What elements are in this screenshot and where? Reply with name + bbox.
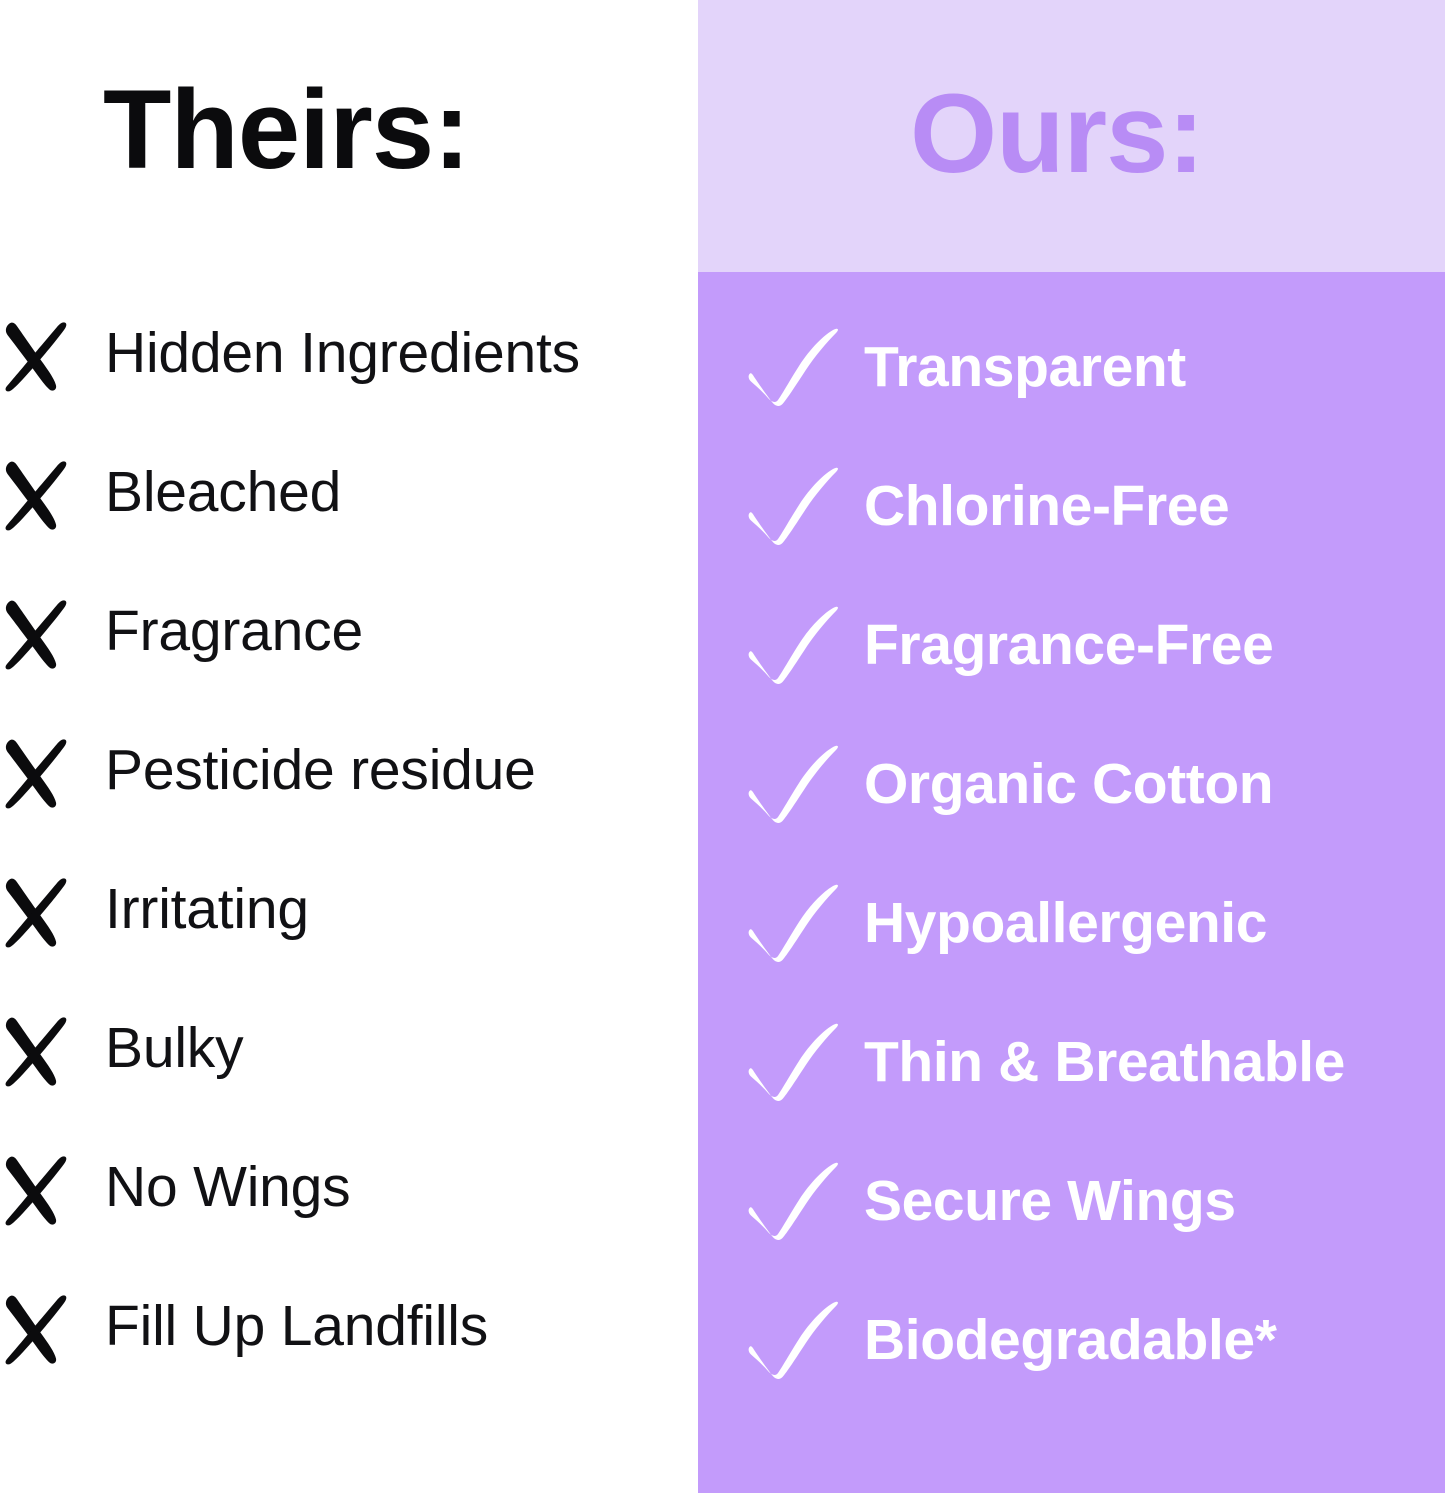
x-mark-icon xyxy=(2,1013,72,1087)
check-mark-icon xyxy=(746,467,842,545)
x-mark-icon xyxy=(2,596,72,670)
x-mark-icon xyxy=(2,874,72,948)
list-item-label: Hypoallergenic xyxy=(864,884,1267,962)
list-item-label: Chlorine-Free xyxy=(864,467,1229,545)
list-item: Hidden Ingredients xyxy=(0,316,698,455)
list-item-label: Bleached xyxy=(105,455,341,529)
check-mark-icon xyxy=(746,1162,842,1240)
list-item: Bleached xyxy=(0,455,698,594)
x-mark-icon xyxy=(2,735,72,809)
ours-list: Transparent Chlorine-Free Fragrance-Free… xyxy=(698,328,1445,1440)
list-item: Irritating xyxy=(0,872,698,1011)
list-item-label: Hidden Ingredients xyxy=(105,316,580,390)
theirs-list: Hidden Ingredients Bleached Fragrance xyxy=(0,316,698,1428)
check-mark-icon xyxy=(746,328,842,406)
list-item: Bulky xyxy=(0,1011,698,1150)
list-item-label: Fill Up Landfills xyxy=(105,1289,488,1363)
theirs-heading: Theirs: xyxy=(103,74,469,186)
list-item-label: Bulky xyxy=(105,1011,243,1085)
check-mark-icon xyxy=(746,1301,842,1379)
list-item: No Wings xyxy=(0,1150,698,1289)
list-item-label: Organic Cotton xyxy=(864,745,1273,823)
list-item: Biodegradable* xyxy=(698,1301,1445,1440)
list-item: Thin & Breathable xyxy=(698,1023,1445,1162)
list-item-label: No Wings xyxy=(105,1150,350,1224)
check-mark-icon xyxy=(746,745,842,823)
list-item: Secure Wings xyxy=(698,1162,1445,1301)
list-item-label: Secure Wings xyxy=(864,1162,1236,1240)
ours-column: Ours: Transparent Chlorine-Free Fragranc… xyxy=(698,0,1445,1493)
list-item: Chlorine-Free xyxy=(698,467,1445,606)
list-item-label: Pesticide residue xyxy=(105,733,536,807)
x-mark-icon xyxy=(2,1291,72,1365)
list-item-label: Fragrance-Free xyxy=(864,606,1273,684)
list-item: Transparent xyxy=(698,328,1445,467)
list-item-label: Irritating xyxy=(105,872,309,946)
list-item-label: Fragrance xyxy=(105,594,363,668)
list-item-label: Transparent xyxy=(864,328,1186,406)
check-mark-icon xyxy=(746,606,842,684)
x-mark-icon xyxy=(2,318,72,392)
list-item: Fragrance xyxy=(0,594,698,733)
ours-heading: Ours: xyxy=(910,78,1204,190)
check-mark-icon xyxy=(746,1023,842,1101)
list-item-label: Thin & Breathable xyxy=(864,1023,1345,1101)
list-item: Pesticide residue xyxy=(0,733,698,872)
list-item: Fill Up Landfills xyxy=(0,1289,698,1428)
x-mark-icon xyxy=(2,1152,72,1226)
theirs-column: Theirs: Hidden Ingredients Bleached xyxy=(0,0,698,1493)
list-item: Organic Cotton xyxy=(698,745,1445,884)
x-mark-icon xyxy=(2,457,72,531)
comparison-chart: Theirs: Hidden Ingredients Bleached xyxy=(0,0,1445,1493)
list-item: Hypoallergenic xyxy=(698,884,1445,1023)
list-item: Fragrance-Free xyxy=(698,606,1445,745)
list-item-label: Biodegradable* xyxy=(864,1301,1277,1379)
check-mark-icon xyxy=(746,884,842,962)
